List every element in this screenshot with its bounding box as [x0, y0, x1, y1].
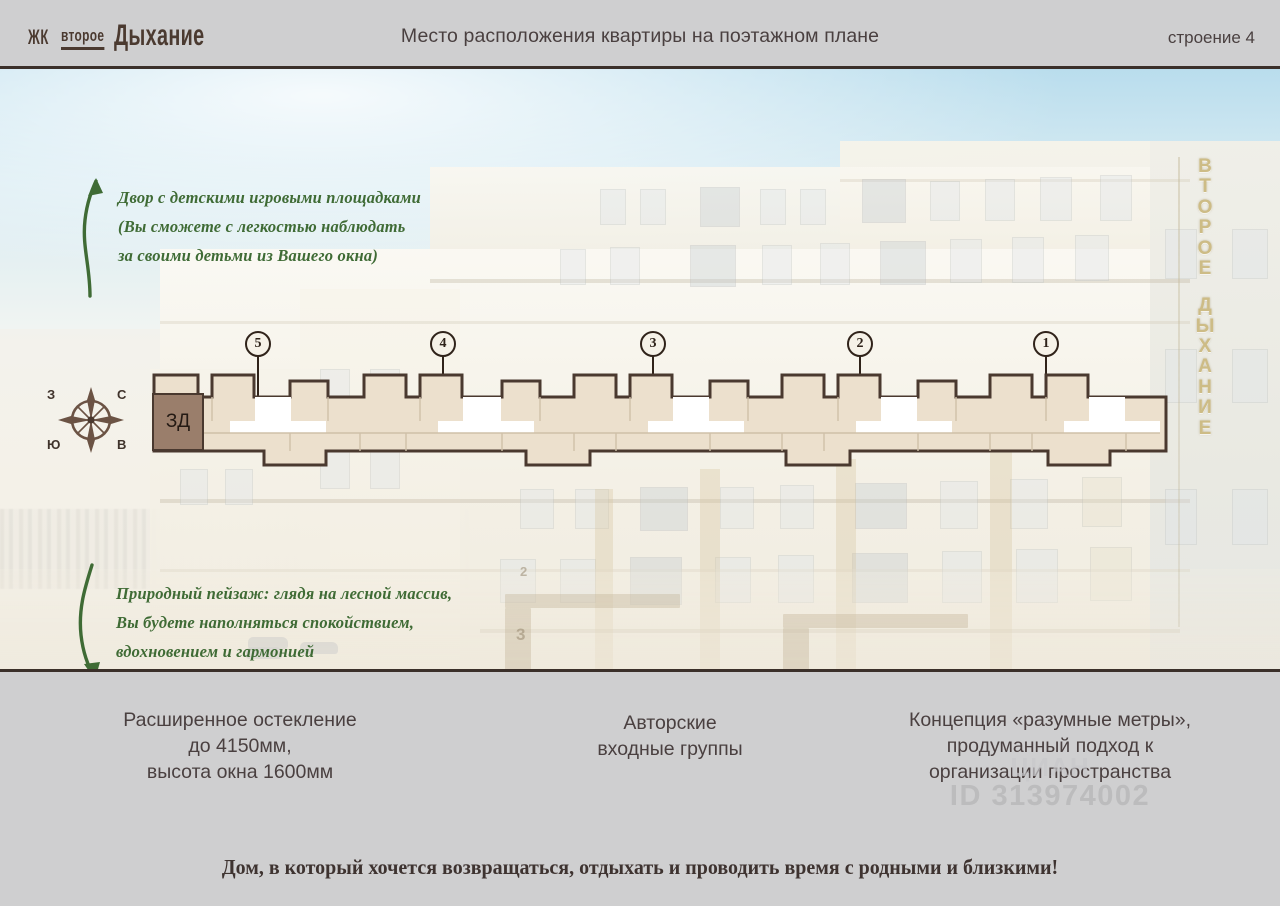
sign-letter: О: [1198, 239, 1213, 258]
building-label: строение 4: [1168, 28, 1255, 48]
page-tagline: Дом, в который хочется возвращаться, отд…: [45, 855, 1235, 880]
sign-letter: Ы: [1196, 317, 1215, 336]
sign-letter: Е: [1199, 259, 1212, 278]
sign-letter: О: [1198, 198, 1213, 217]
annotation-bottom-line-2: Вы будете наполняться спокойствием,: [116, 608, 452, 637]
compass-west-label: З: [47, 387, 55, 402]
floor-plan-overlay: 5 4 3 2 1: [150, 331, 1170, 481]
floor-plan-outline[interactable]: [150, 331, 1170, 481]
entrance-number-2: 2: [520, 564, 527, 579]
sign-letter: И: [1198, 398, 1212, 417]
entrance-wall: [783, 628, 809, 669]
feature-glazing: Расширенное остекление до 4150мм, высота…: [40, 707, 440, 785]
feature-entrances: Авторские входные группы: [470, 710, 870, 762]
annotation-top-line-2: (Вы сможете с легкостью наблюдать: [118, 212, 421, 241]
features-section: Расширенное остекление до 4150мм, высота…: [0, 672, 1280, 832]
sign-letter: В: [1198, 157, 1212, 176]
annotation-bottom: Природный пейзаж: глядя на лесной массив…: [116, 579, 452, 666]
compass-rose: З С Ю В: [40, 379, 140, 461]
building-vertical-sign: В Т О Р О Е Д Ы Х А Н И Е: [1192, 157, 1218, 627]
cornice-band: [160, 321, 1190, 324]
feature-glazing-line-3: высота окна 1600мм: [40, 759, 440, 785]
page-title: Место расположения квартиры на поэтажном…: [0, 25, 1280, 48]
feature-concept-line-1: Концепция «разумные метры»,: [840, 707, 1260, 733]
highlighted-apartment-label: ЗД: [166, 411, 190, 433]
feature-concept-line-2: продуманный подход к: [840, 733, 1260, 759]
feature-concept: Концепция «разумные метры», продуманный …: [840, 707, 1260, 785]
arrow-up-icon: [70, 174, 116, 299]
entrance-canopy: [783, 614, 968, 628]
feature-entrances-line-2: входные группы: [470, 736, 870, 762]
compass-icon: [56, 385, 126, 455]
annotation-top-line-3: за своими детьми из Вашего окна): [118, 241, 421, 270]
page-header: ЖК второе Дыхание Место расположения ква…: [0, 0, 1280, 68]
highlighted-apartment-block[interactable]: ЗД: [152, 393, 204, 451]
sign-letter: Е: [1199, 419, 1212, 438]
annotation-top: Двор с детскими игровыми площадками (Вы …: [118, 183, 421, 270]
feature-glazing-line-2: до 4150мм,: [40, 733, 440, 759]
sign-rail: [1178, 157, 1180, 627]
feature-glazing-line-1: Расширенное остекление: [40, 707, 440, 733]
feature-entrances-line-1: Авторские: [470, 710, 870, 736]
annotation-bottom-line-3: вдохновением и гармонией: [116, 637, 452, 666]
sign-letter: Д: [1198, 296, 1212, 315]
entrance-number-3: 3: [516, 625, 525, 645]
feature-concept-line-3: организации пространства: [840, 759, 1260, 785]
sign-letter: Х: [1199, 337, 1212, 356]
brochure-page: ЖК второе Дыхание Место расположения ква…: [0, 0, 1280, 906]
sign-letter: Т: [1199, 177, 1211, 196]
sign-letter: Р: [1199, 218, 1212, 237]
annotation-top-line-1: Двор с детскими игровыми площадками: [118, 183, 421, 212]
sign-letter: Н: [1198, 378, 1212, 397]
arrow-down-icon: [68, 561, 116, 669]
sign-letter: А: [1198, 357, 1212, 376]
entrance-canopy: [505, 594, 680, 608]
annotation-bottom-line-1: Природный пейзаж: глядя на лесной массив…: [116, 579, 452, 608]
building-photo: 3 4 2 В Т О Р О: [0, 69, 1280, 669]
